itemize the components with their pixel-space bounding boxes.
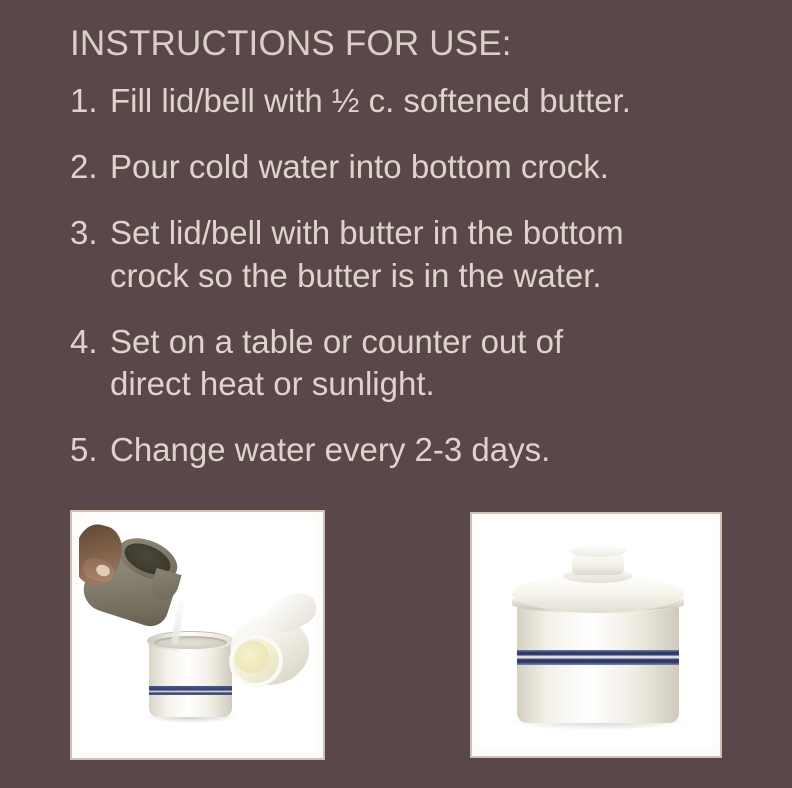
- crock-blue-stripe: [517, 650, 679, 665]
- step-number: 2.: [70, 146, 110, 188]
- step-number: 1.: [70, 80, 110, 122]
- step-number: 5.: [70, 429, 110, 471]
- step-line: Fill lid/bell with ½ c. softened butter.: [110, 82, 631, 119]
- lid-knob-top: [570, 545, 626, 557]
- instruction-steps-list: 1. Fill lid/bell with ½ c. softened butt…: [70, 80, 750, 496]
- assembled-butter-crock-photo: [470, 512, 722, 758]
- step-line: Set on a table or counter out of: [110, 323, 563, 360]
- crock-blue-stripe: [149, 686, 232, 695]
- instruction-step-1: 1. Fill lid/bell with ½ c. softened butt…: [70, 80, 750, 122]
- instruction-step-3: 3. Set lid/bell with butter in the botto…: [70, 212, 750, 296]
- instruction-step-4: 4. Set on a table or counter out of dire…: [70, 321, 750, 405]
- instruction-step-5: 5. Change water every 2-3 days.: [70, 429, 750, 471]
- step-text: Pour cold water into bottom crock.: [110, 146, 750, 188]
- step-text: Fill lid/bell with ½ c. softened butter.: [110, 80, 750, 122]
- step-line: Change water every 2-3 days.: [110, 431, 550, 468]
- step-text: Set on a table or counter out of direct …: [110, 321, 750, 405]
- step-line: direct heat or sunlight.: [110, 363, 750, 405]
- water-surface: [156, 638, 225, 649]
- product-photos: [0, 510, 792, 770]
- photo-canvas-right: [479, 521, 713, 749]
- step-text: Set lid/bell with butter in the bottom c…: [110, 212, 750, 296]
- page-title: INSTRUCTIONS FOR USE:: [70, 24, 512, 64]
- photo-canvas-left: [79, 519, 316, 751]
- pouring-water-into-crock-photo: [70, 510, 325, 760]
- step-number: 3.: [70, 212, 110, 254]
- step-text: Change water every 2-3 days.: [110, 429, 750, 471]
- step-number: 4.: [70, 321, 110, 363]
- instructions-poster: INSTRUCTIONS FOR USE: 1. Fill lid/bell w…: [0, 0, 792, 788]
- instruction-step-2: 2. Pour cold water into bottom crock.: [70, 146, 750, 188]
- step-line: crock so the butter is in the water.: [110, 255, 750, 297]
- step-line: Set lid/bell with butter in the bottom: [110, 214, 624, 251]
- step-line: Pour cold water into bottom crock.: [110, 148, 609, 185]
